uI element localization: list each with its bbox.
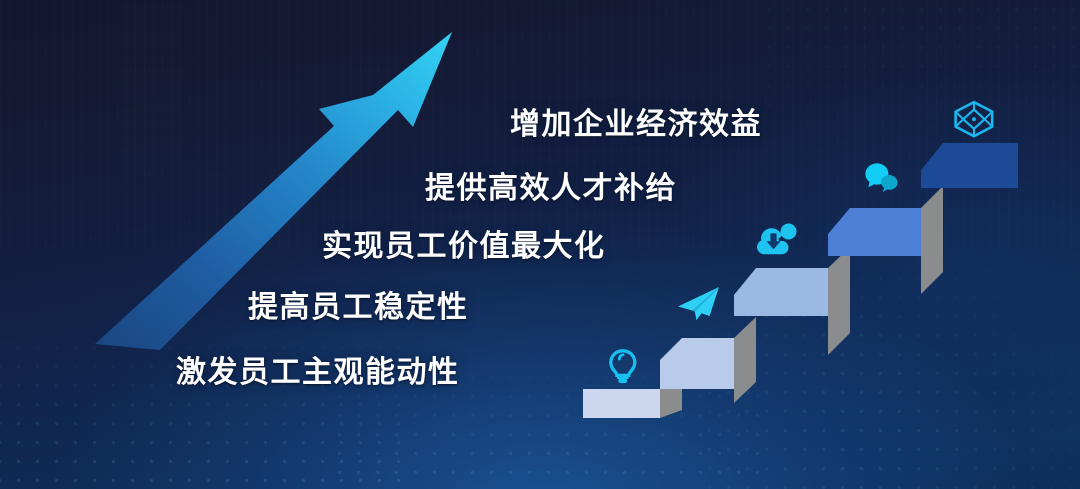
text-line-4: 提供高效人才补给 bbox=[425, 163, 677, 207]
text-line-3: 实现员工价值最大化 bbox=[322, 221, 606, 265]
lightbulb-base bbox=[617, 374, 629, 379]
text-line-1: 激发员工主观能动性 bbox=[176, 347, 460, 391]
wireframe-cube-icon bbox=[956, 102, 993, 136]
text-line-2: 提高员工稳定性 bbox=[248, 282, 469, 326]
paper-plane-icon bbox=[678, 287, 719, 320]
text-line-5: 增加企业经济效益 bbox=[510, 99, 762, 143]
cloud-download-icon bbox=[757, 224, 797, 255]
speech-bubbles-icon bbox=[865, 163, 897, 192]
infographic-canvas: 增加企业经济效益 提供高效人才补给 实现员工价值最大化 提高员工稳定性 激发员工… bbox=[0, 0, 1080, 489]
lightbulb-icon bbox=[611, 351, 635, 383]
